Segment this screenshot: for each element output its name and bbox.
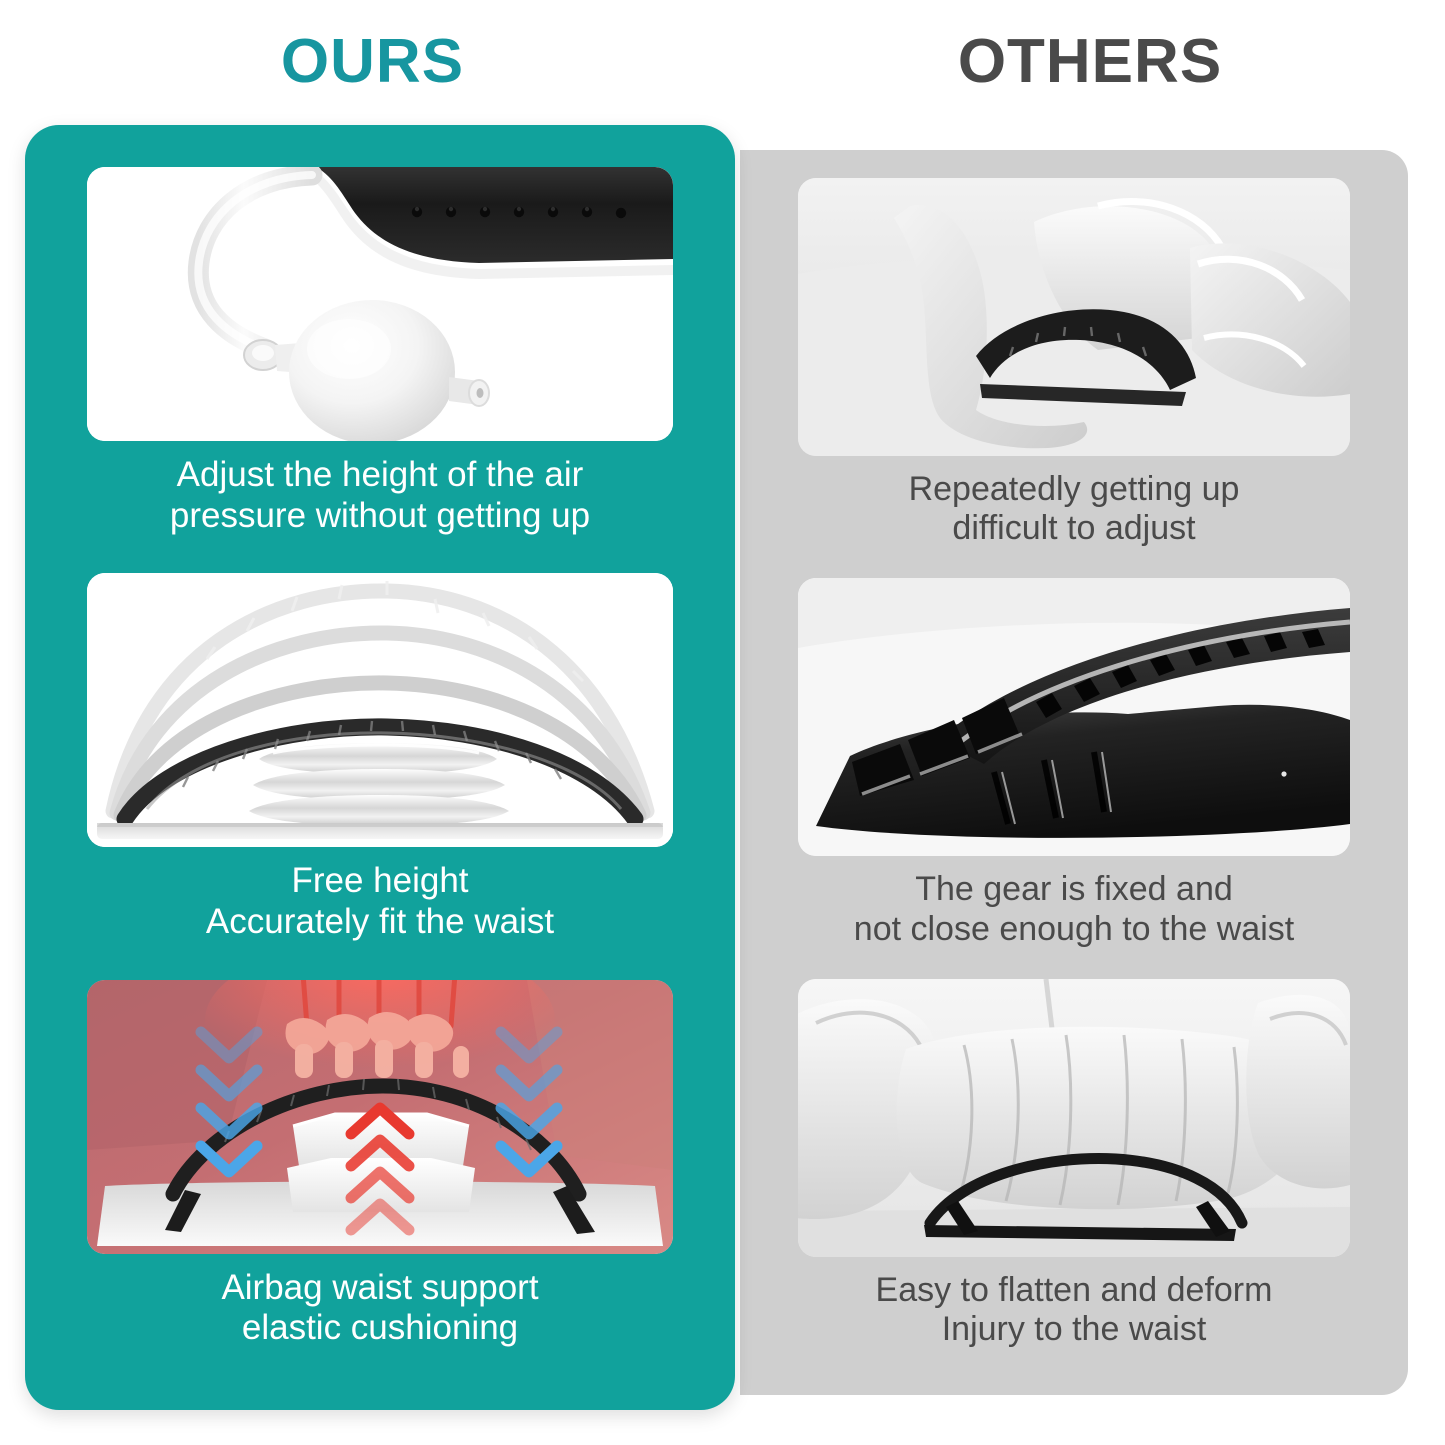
- flattened-device-photo: [798, 979, 1350, 1257]
- arch-heights-illustration: [87, 573, 673, 847]
- comparison-headers: OURS OTHERS: [0, 0, 1445, 125]
- flattened-device-illustration: [798, 979, 1350, 1257]
- fixed-gear-illustration: [798, 578, 1350, 856]
- ours-caption-2: Free height Accurately fit the waist: [87, 847, 673, 973]
- airbag-support-illustration: [87, 980, 673, 1254]
- ours-caption-3: Airbag waist support elastic cushioning: [87, 1254, 673, 1380]
- person-adjusting-illustration: [798, 178, 1350, 456]
- airbag-cushions: [287, 1114, 475, 1212]
- others-item-2: The gear is fixed and not close enough t…: [798, 578, 1350, 972]
- ours-item-2: Free height Accurately fit the waist: [87, 573, 673, 973]
- header-others: OTHERS: [745, 26, 1435, 97]
- others-item-3: Easy to flatten and deform Injury to the…: [798, 979, 1350, 1373]
- stacked-arch-heights-photo: [87, 573, 673, 847]
- airbag-disc-stack: [249, 743, 509, 826]
- air-pump-bulb-photo: [87, 167, 673, 441]
- air-pump-illustration: [87, 167, 673, 441]
- ours-item-1: Adjust the height of the air pressure wi…: [87, 167, 673, 567]
- base-dot: [1281, 772, 1286, 777]
- release-valve: [449, 377, 489, 406]
- others-item-1: Repeatedly getting up difficult to adjus…: [798, 178, 1350, 572]
- person-adjusting-device-photo: [798, 178, 1350, 456]
- others-caption-3: Easy to flatten and deform Injury to the…: [798, 1257, 1350, 1373]
- others-caption-2: The gear is fixed and not close enough t…: [798, 856, 1350, 972]
- ours-item-3: Airbag waist support elastic cushioning: [87, 980, 673, 1380]
- others-caption-1: Repeatedly getting up difficult to adjus…: [798, 456, 1350, 572]
- ours-caption-1: Adjust the height of the air pressure wi…: [87, 441, 673, 567]
- header-ours: OURS: [0, 26, 745, 97]
- ours-column: Adjust the height of the air pressure wi…: [25, 125, 735, 1410]
- fixed-gear-stretcher-photo: [798, 578, 1350, 856]
- airbag-waist-support-diagram: [87, 980, 673, 1254]
- others-column: Repeatedly getting up difficult to adjus…: [740, 150, 1408, 1395]
